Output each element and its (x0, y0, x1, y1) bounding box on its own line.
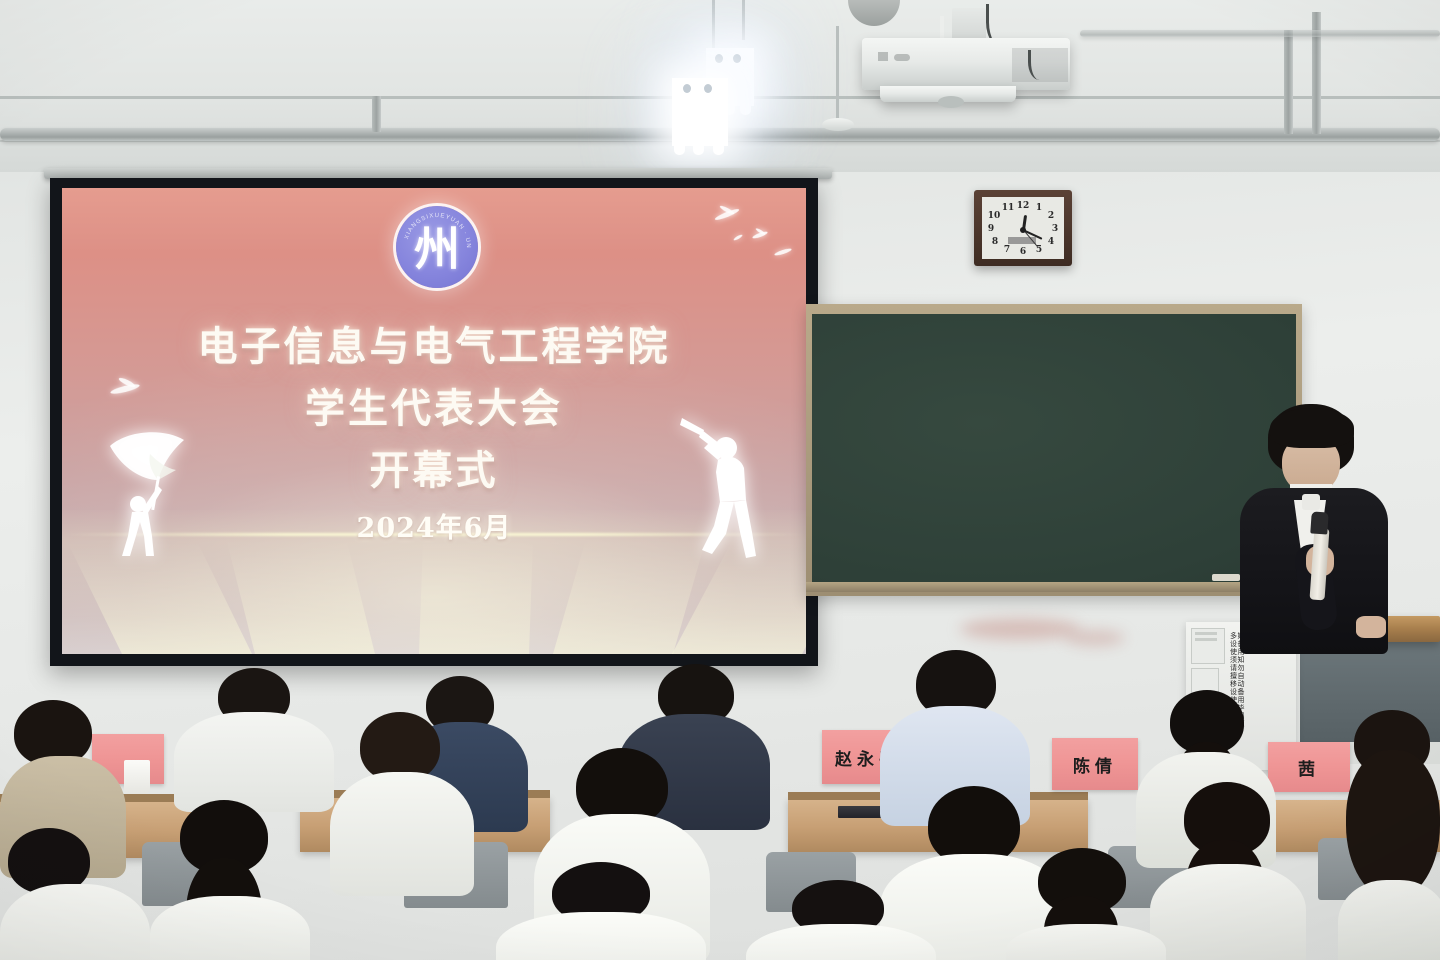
projector-vent-2 (894, 54, 910, 61)
fluorescent-lamp-front (672, 78, 728, 146)
name-card-chen-text: 陈倩 (1073, 752, 1117, 777)
wall-stain-2 (1065, 630, 1125, 646)
projection-screen: XIANGSIXUEYUAN · UNIVERSITY 州 电子信息与电气工程学… (62, 188, 806, 654)
projector-vent-1 (878, 52, 888, 61)
audience-body (174, 712, 334, 812)
clock-face: 12 1 2 3 4 5 6 7 8 9 10 11 (982, 197, 1064, 259)
clock-center-pin (1020, 227, 1026, 233)
presenter-tie-knot (1302, 494, 1320, 510)
projector-lens (938, 96, 964, 108)
audience-member-11 (1338, 710, 1440, 960)
flag-bearer-silhouette (92, 424, 202, 564)
lamp-tooth-f2 (693, 144, 704, 155)
trumpeter-svg (674, 408, 774, 566)
audience-member-13 (150, 800, 310, 960)
lamp-rod-b (742, 0, 745, 40)
clock-num-2: 2 (1048, 211, 1054, 221)
dove-3 (774, 247, 792, 256)
audience-body (150, 896, 310, 960)
clock-num-9: 9 (988, 224, 994, 234)
audience-member-12 (0, 828, 150, 960)
audience-body (1338, 880, 1440, 960)
audience-member-14 (496, 862, 706, 960)
audience-member-7 (330, 712, 474, 882)
audience-member-16 (1006, 848, 1166, 960)
presenter-fringe (1270, 408, 1354, 448)
clock-num-1: 1 (1036, 203, 1042, 213)
photo-scene: XIANGSIXUEYUAN · UNIVERSITY 州 电子信息与电气工程学… (0, 0, 1440, 960)
lamp-tooth-f3 (713, 144, 724, 155)
lamp-socket-4 (704, 84, 712, 93)
paper-cup[interactable] (124, 760, 150, 794)
presenter-left-hand (1356, 616, 1386, 638)
clock-num-12: 12 (1017, 201, 1030, 211)
audience-member-1 (174, 668, 334, 808)
clock-num-8: 8 (992, 237, 998, 247)
name-card-right-text: 茜 (1298, 755, 1320, 780)
ceiling-sensor (822, 118, 854, 131)
clock-num-6: 6 (1020, 247, 1026, 257)
conduit-hanger-2 (1284, 30, 1293, 134)
microphone-head (1310, 511, 1328, 534)
audience-ponytail (1346, 750, 1440, 900)
audience-body (0, 884, 150, 960)
university-emblem: XIANGSIXUEYUAN · UNIVERSITY 州 (396, 206, 478, 288)
lamp-tooth-f1 (674, 144, 685, 155)
lamp-rod-a (712, 0, 715, 48)
lamp-tooth-r3 (740, 104, 751, 115)
presenter (1210, 404, 1390, 654)
wall-clock: 12 1 2 3 4 5 6 7 8 9 10 11 (974, 190, 1072, 266)
flag-bearer-svg (92, 424, 202, 564)
clock-num-11: 11 (1002, 203, 1015, 213)
clock-num-10: 10 (988, 211, 1001, 221)
name-card-chen: 陈倩 (1052, 738, 1138, 790)
audience-member-10 (1150, 782, 1306, 960)
conduit-hanger-1 (372, 96, 381, 132)
lamp-socket-1 (715, 54, 723, 63)
audience-body (1150, 864, 1306, 960)
dove-4 (733, 234, 743, 242)
audience-body (1006, 924, 1166, 960)
audience-body (330, 772, 474, 896)
clock-num-3: 3 (1052, 224, 1058, 234)
clock-num-4: 4 (1048, 237, 1054, 247)
slide-ray-3 (419, 540, 533, 654)
lamp-socket-2 (733, 54, 741, 63)
clock-num-7: 7 (1004, 245, 1010, 255)
audience-body (496, 912, 706, 960)
lamp-socket-3 (683, 84, 691, 93)
emblem-glyph: 州 (414, 226, 460, 272)
ceiling-conduit-upper (1080, 30, 1440, 37)
wall-stain (960, 618, 1080, 640)
sensor-rod (836, 26, 839, 120)
trumpeter-silhouette (674, 408, 774, 566)
audience-body (746, 924, 936, 960)
slide-title-line-1: 电子信息与电气工程学院 (62, 314, 806, 372)
audience-member-15 (746, 880, 936, 960)
